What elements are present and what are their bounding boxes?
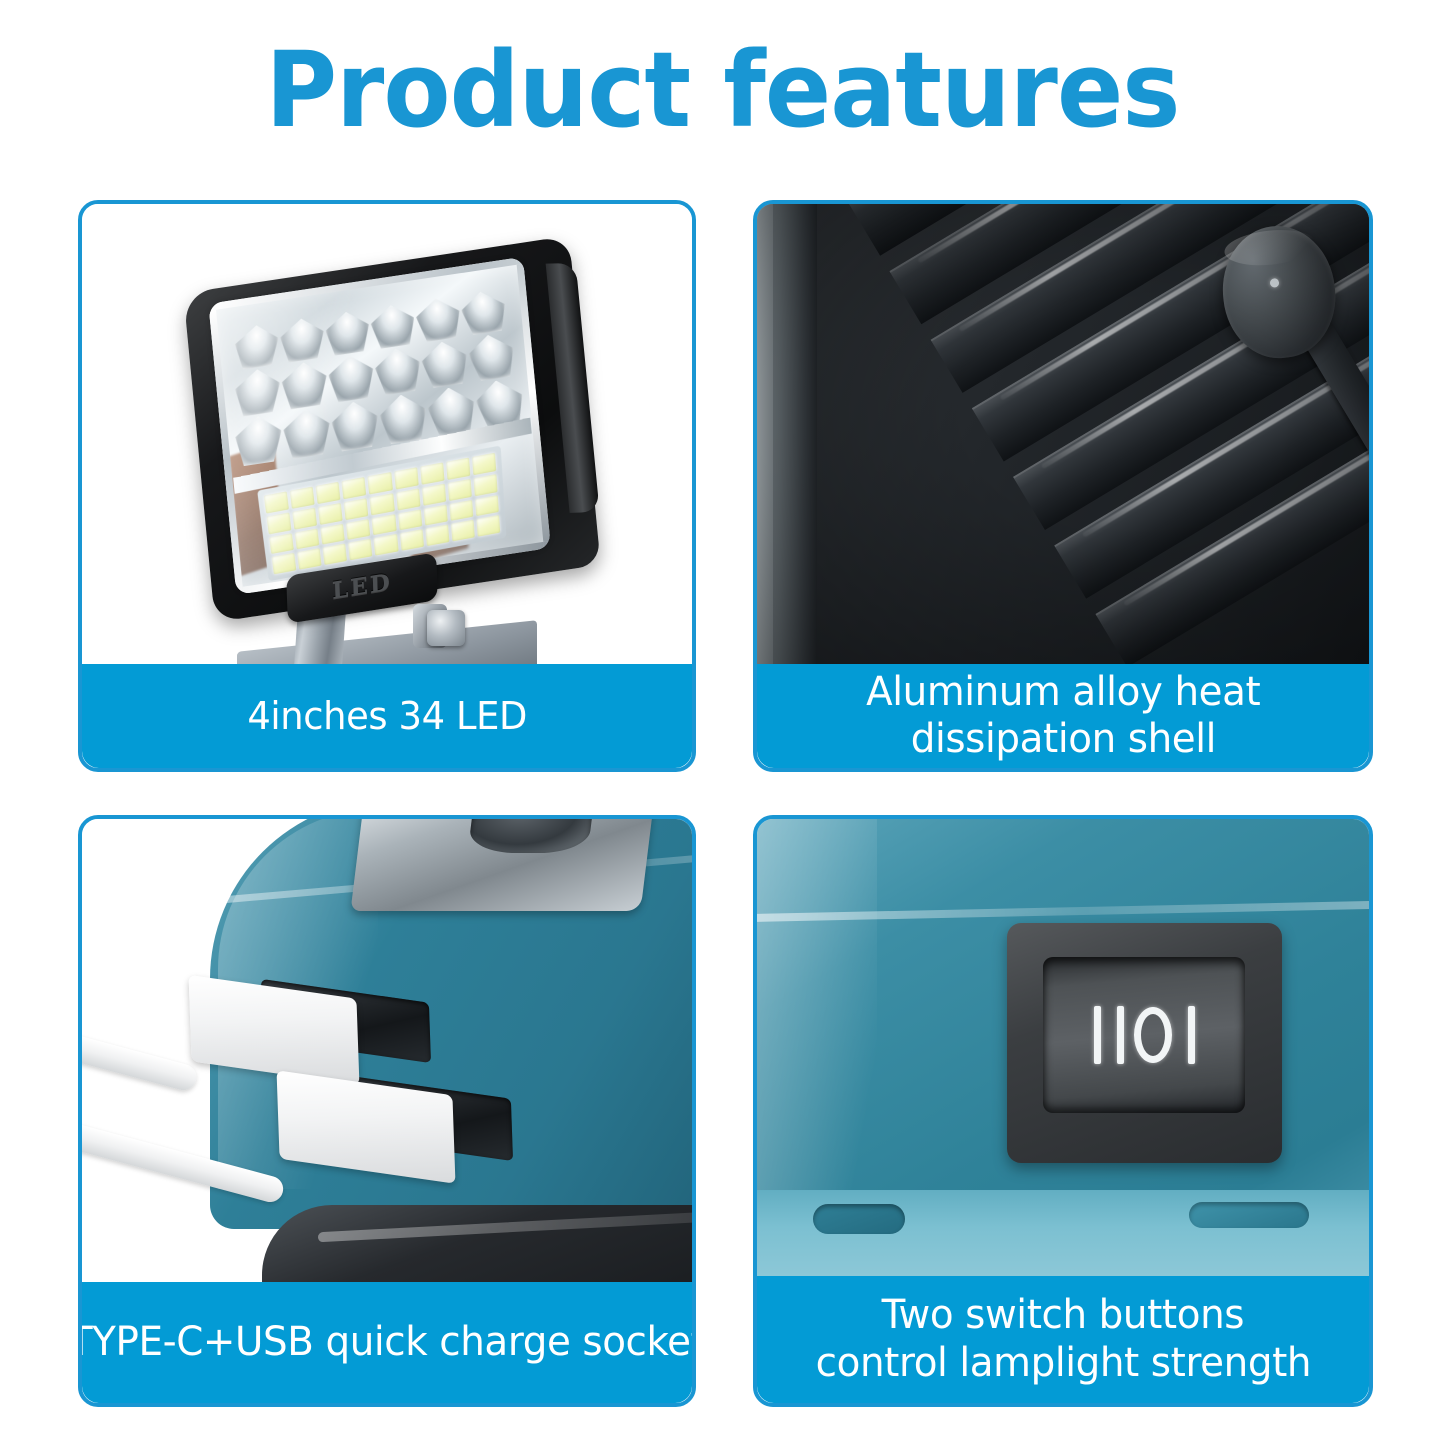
feature-card-switch-buttons: II O I Two switch buttons control lampli… [753, 815, 1373, 1407]
caption-line: Two switch buttons [882, 1292, 1244, 1339]
rocker-switch-button[interactable]: II O I [1043, 957, 1245, 1113]
caption-line: 4inches 34 LED [247, 694, 527, 739]
caption-line: TYPE-C+USB quick charge socket [78, 1319, 696, 1366]
page-title: Product features [43, 34, 1401, 146]
feature-caption-led-count: 4inches 34 LED [82, 664, 692, 768]
led-work-light-photo: LED [82, 204, 692, 672]
metal-mount-bracket [351, 819, 656, 911]
lens-rim [208, 257, 551, 595]
feature-card-heat-dissipation: Aluminum alloy heat dissipation shell [753, 200, 1373, 772]
rocker-switch-photo: II O I [757, 819, 1369, 1284]
switch-symbol-off-circle [1134, 1007, 1172, 1063]
charge-socket-photo [82, 819, 692, 1290]
feature-card-led-count: LED 4inches 34 LED [78, 200, 696, 772]
product-features-infographic: Product features [0, 0, 1445, 1445]
switch-symbol-double-bar-1 [1094, 1006, 1101, 1064]
caption-line: control lamplight strength [815, 1340, 1310, 1387]
cable-wire [82, 1007, 199, 1093]
feature-caption-switch-buttons: Two switch buttons control lamplight str… [757, 1276, 1369, 1403]
switch-bezel: II O I [1007, 923, 1282, 1163]
bracket-bolt [413, 604, 465, 656]
switch-symbol-single-bar [1188, 1006, 1195, 1064]
feature-caption-heat-dissipation: Aluminum alloy heat dissipation shell [757, 664, 1369, 768]
product-lower-housing [757, 1190, 1369, 1284]
aluminum-heat-sink-photo [757, 204, 1369, 672]
switch-symbol-double-bar-2 [1117, 1006, 1124, 1064]
feature-card-charge-socket: TYPE-C+USB quick charge socket [78, 815, 696, 1407]
lamp-lens [208, 257, 551, 595]
heat-sink-side-edge [757, 204, 817, 672]
led-lamp-assembly: LED [177, 254, 607, 672]
product-dark-base [262, 1205, 692, 1290]
caption-line: Aluminum alloy heat [866, 669, 1260, 716]
feature-caption-charge-socket: TYPE-C+USB quick charge socket [82, 1282, 692, 1403]
caption-line: dissipation shell [910, 716, 1215, 763]
